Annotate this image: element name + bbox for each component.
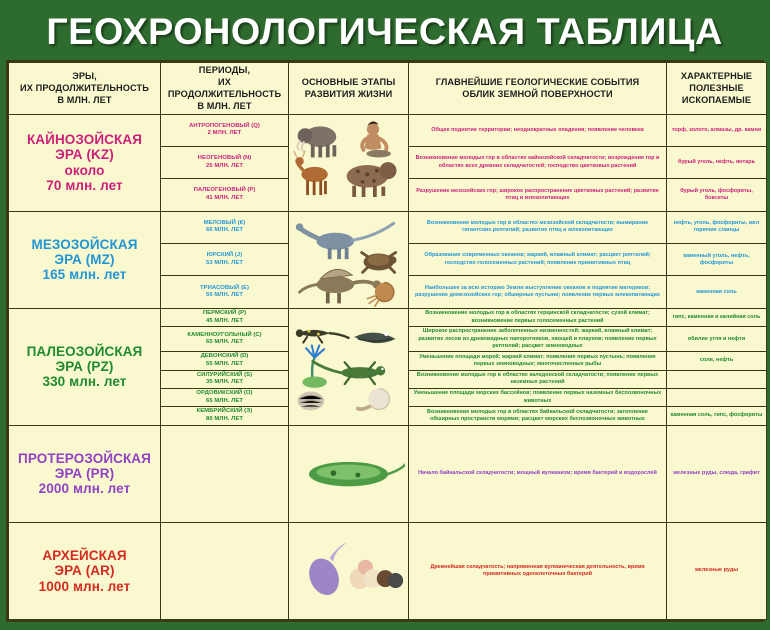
header-minerals-line2: ПОЛЕЗНЫЕ	[689, 83, 743, 93]
period-cell: ПАЛЕОГЕНОВЫЙ (Р)41 МЛН. ЛЕТ	[161, 179, 289, 211]
era-name-line: ЭРА (MZ)	[54, 252, 114, 267]
period-name: АНТРОПОГЕНОВЫЙ (Q)	[164, 123, 285, 131]
period-cell: ДЕВОНСКИЙ (D)55 МЛН. ЛЕТ	[161, 352, 289, 370]
life-illustration-kz	[289, 114, 409, 211]
period-cell: ОРДОВИКСКИЙ (О)65 МЛН. ЛЕТ	[161, 388, 289, 406]
header-life-line1: ОСНОВНЫЕ ЭТАПЫ	[302, 77, 396, 87]
geological-events-cell: Общее поднятие территории; неоднократные…	[409, 114, 667, 146]
table-row: КАЙНОЗОЙСКАЯЭРА (KZ)около70 млн. летАНТР…	[9, 114, 767, 146]
period-duration: 55 МЛН. ЛЕТ	[164, 361, 285, 369]
header-eras-line2: ИХ ПРОДОЛЖИТЕЛЬНОСТЬ	[20, 83, 149, 93]
header-periods-line3: В МЛН. ЛЕТ	[197, 101, 251, 111]
period-cell: ТРИАСОВЫЙ (Е)50 МЛН. ЛЕТ	[161, 276, 289, 308]
period-cell: ПЕРМСКИЙ (Р)45 МЛН. ЛЕТ	[161, 308, 289, 326]
period-name: МЕЛОВЫЙ (К)	[164, 220, 285, 228]
life-illustration-pr	[289, 425, 409, 522]
period-duration: 65 МЛН. ЛЕТ	[164, 339, 285, 347]
geological-events-cell: Возникновение молодых гор в областях бай…	[409, 407, 667, 425]
geochronology-table: ЭРЫ, ИХ ПРОДОЛЖИТЕЛЬНОСТЬ В МЛН. ЛЕТ ПЕР…	[8, 62, 767, 620]
era-cell-mz: МЕЗОЗОЙСКАЯЭРА (MZ)165 млн. лет	[9, 211, 161, 308]
era-name-line: 1000 млн. лет	[39, 579, 131, 594]
minerals-cell	[667, 388, 767, 406]
era-name-line: ЭРА (PZ)	[56, 359, 114, 374]
header-life-stages: ОСНОВНЫЕ ЭТАПЫ РАЗВИТИЯ ЖИЗНИ	[289, 63, 409, 115]
table-row: МЕЗОЗОЙСКАЯЭРА (MZ)165 млн. летМЕЛОВЫЙ (…	[9, 211, 767, 243]
geological-events-cell: Начало байкальской складчатости; мощный …	[409, 425, 667, 522]
era-name-line: 2000 млн. лет	[39, 481, 131, 496]
period-cell	[161, 425, 289, 522]
minerals-cell: обилие угля и нефти	[667, 327, 767, 352]
period-cell: КАМЕННОУГОЛЬНЫЙ (С)65 МЛН. ЛЕТ	[161, 327, 289, 352]
table-header: ЭРЫ, ИХ ПРОДОЛЖИТЕЛЬНОСТЬ В МЛН. ЛЕТ ПЕР…	[9, 63, 767, 115]
table-row: ПАЛЕОЗОЙСКАЯЭРА (PZ)330 млн. летПЕРМСКИЙ…	[9, 308, 767, 326]
minerals-cell: бурый уголь, нефть, янтарь	[667, 146, 767, 178]
period-duration: 35 МЛН. ЛЕТ	[164, 379, 285, 387]
table-row: АРХЕЙСКАЯЭРА (AR)1000 млн. летДревнейшая…	[9, 522, 767, 619]
period-cell: КЕМБРИЙСКИЙ (Э)80 МЛН. ЛЕТ	[161, 407, 289, 425]
era-name-line: МЕЗОЗОЙСКАЯ	[31, 237, 137, 252]
era-name-line: ЭРА (AR)	[54, 563, 114, 578]
minerals-cell: каменная соль, гипс, фосфориты	[667, 407, 767, 425]
header-events-line2: ОБЛИК ЗЕМНОЙ ПОВЕРХНОСТИ	[462, 89, 612, 99]
header-periods-line2: ИХ ПРОДОЛЖИТЕЛЬНОСТЬ	[168, 77, 281, 99]
period-name: ПАЛЕОГЕНОВЫЙ (Р)	[164, 187, 285, 195]
life-illustration-pz	[289, 308, 409, 425]
era-name-line: ЭРА (PR)	[55, 466, 114, 481]
minerals-cell: каменный уголь, нефть, фосфориты	[667, 244, 767, 276]
geological-events-cell: Наибольшее за всю историю Земли выступле…	[409, 276, 667, 308]
title-bar: ГЕОХРОНОЛОГИЧЕСКАЯ ТАБЛИЦА	[0, 0, 770, 60]
minerals-cell: железные руды, слюда, графит	[667, 425, 767, 522]
table-body: КАЙНОЗОЙСКАЯЭРА (KZ)около70 млн. летАНТР…	[9, 114, 767, 619]
period-name: КАМЕННОУГОЛЬНЫЙ (С)	[164, 332, 285, 340]
header-minerals-line3: ИСКОПАЕМЫЕ	[682, 95, 751, 105]
minerals-cell: бурый уголь, фосфориты, бокситы	[667, 179, 767, 211]
era-name-line: ПРОТЕРОЗОЙСКАЯ	[18, 451, 151, 466]
era-cell-pz: ПАЛЕОЗОЙСКАЯЭРА (PZ)330 млн. лет	[9, 308, 161, 425]
period-name: ОРДОВИКСКИЙ (О)	[164, 390, 285, 398]
geological-events-cell: Разрушение мезозойских гор; широкое расп…	[409, 179, 667, 211]
era-name-line: ПАЛЕОЗОЙСКАЯ	[27, 344, 143, 359]
header-events-line1: ГЛАВНЕЙШИЕ ГЕОЛОГИЧЕСКИЕ СОБЫТИЯ	[436, 77, 640, 87]
period-duration: 53 МЛН. ЛЕТ	[164, 260, 285, 268]
period-name: КЕМБРИЙСКИЙ (Э)	[164, 408, 285, 416]
header-eras-line3: В МЛН. ЛЕТ	[57, 95, 111, 105]
geological-events-cell: Возникновение молодых гор в областях мез…	[409, 211, 667, 243]
minerals-cell	[667, 370, 767, 388]
archean-life-icon	[292, 524, 405, 618]
period-name: СИЛУРИЙСКИЙ (S)	[164, 372, 285, 380]
minerals-cell: железные руды	[667, 522, 767, 619]
period-duration: 2 МЛН. ЛЕТ	[164, 130, 285, 138]
period-cell: МЕЛОВЫЙ (К)66 МЛН. ЛЕТ	[161, 211, 289, 243]
period-cell: ЮРСКИЙ (J)53 МЛН. ЛЕТ	[161, 244, 289, 276]
period-cell: СИЛУРИЙСКИЙ (S)35 МЛН. ЛЕТ	[161, 370, 289, 388]
era-name-line: 165 млн. лет	[42, 267, 126, 282]
period-duration: 65 МЛН. ЛЕТ	[164, 398, 285, 406]
header-row: ЭРЫ, ИХ ПРОДОЛЖИТЕЛЬНОСТЬ В МЛН. ЛЕТ ПЕР…	[9, 63, 767, 115]
cenozoic-fauna-icon	[292, 116, 405, 210]
table-container: ЭРЫ, ИХ ПРОДОЛЖИТЕЛЬНОСТЬ В МЛН. ЛЕТ ПЕР…	[6, 60, 764, 622]
era-name-line: АРХЕЙСКАЯ	[42, 548, 126, 563]
era-name-line: ЭРА (KZ)	[55, 147, 114, 162]
period-duration: 50 МЛН. ЛЕТ	[164, 292, 285, 300]
period-duration: 45 МЛН. ЛЕТ	[164, 318, 285, 326]
period-duration: 25 МЛН. ЛЕТ	[164, 163, 285, 171]
page-title: ГЕОХРОНОЛОГИЧЕСКАЯ ТАБЛИЦА	[47, 13, 723, 50]
era-name-line: 330 млн. лет	[42, 374, 126, 389]
period-cell	[161, 522, 289, 619]
geological-events-cell: Возникновение молодых гор в областях кал…	[409, 370, 667, 388]
period-name: ДЕВОНСКИЙ (D)	[164, 353, 285, 361]
era-cell-ar: АРХЕЙСКАЯЭРА (AR)1000 млн. лет	[9, 522, 161, 619]
header-minerals: ХАРАКТЕРНЫЕ ПОЛЕЗНЫЕ ИСКОПАЕМЫЕ	[667, 63, 767, 115]
header-periods: ПЕРИОДЫ, ИХ ПРОДОЛЖИТЕЛЬНОСТЬ В МЛН. ЛЕТ	[161, 63, 289, 115]
period-duration: 41 МЛН. ЛЕТ	[164, 195, 285, 203]
period-duration: 66 МЛН. ЛЕТ	[164, 227, 285, 235]
period-name: НЕОГЕНОВЫЙ (N)	[164, 155, 285, 163]
geochronological-table-poster: ГЕОХРОНОЛОГИЧЕСКАЯ ТАБЛИЦА ЭРЫ, ИХ ПРОДО…	[0, 0, 770, 630]
geological-events-cell: Древнейшая складчатость; напряженная вул…	[409, 522, 667, 619]
minerals-cell: торф, золото, алмазы, др. камни	[667, 114, 767, 146]
life-illustration-ar	[289, 522, 409, 619]
table-row: ПРОТЕРОЗОЙСКАЯЭРА (PR)2000 млн. летНачал…	[9, 425, 767, 522]
geological-events-cell: Уменьшение площади морей; жаркий климат;…	[409, 352, 667, 370]
geological-events-cell: Образование современных океанов; жаркий,…	[409, 244, 667, 276]
mesozoic-fauna-icon	[292, 213, 405, 307]
minerals-cell: соли, нефть	[667, 352, 767, 370]
geological-events-cell: Широкое распространение заболоченных низ…	[409, 327, 667, 352]
era-name-line: около	[65, 163, 105, 178]
header-geological-events: ГЛАВНЕЙШИЕ ГЕОЛОГИЧЕСКИЕ СОБЫТИЯ ОБЛИК З…	[409, 63, 667, 115]
period-name: ПЕРМСКИЙ (Р)	[164, 310, 285, 318]
header-life-line2: РАЗВИТИЯ ЖИЗНИ	[305, 89, 393, 99]
proterozoic-life-icon	[292, 427, 405, 521]
life-illustration-mz	[289, 211, 409, 308]
minerals-cell: нефть, уголь, фосфориты, мел горючие сла…	[667, 211, 767, 243]
period-cell: АНТРОПОГЕНОВЫЙ (Q)2 МЛН. ЛЕТ	[161, 114, 289, 146]
header-eras-line1: ЭРЫ,	[72, 71, 97, 81]
geological-events-cell: Возникновение молодых гор в областях гер…	[409, 308, 667, 326]
era-name-line: КАЙНОЗОЙСКАЯ	[27, 132, 142, 147]
era-cell-pr: ПРОТЕРОЗОЙСКАЯЭРА (PR)2000 млн. лет	[9, 425, 161, 522]
period-cell: НЕОГЕНОВЫЙ (N)25 МЛН. ЛЕТ	[161, 146, 289, 178]
geological-events-cell: Возникновение молодых гор в областях кай…	[409, 146, 667, 178]
period-name: ТРИАСОВЫЙ (Е)	[164, 285, 285, 293]
era-cell-kz: КАЙНОЗОЙСКАЯЭРА (KZ)около70 млн. лет	[9, 114, 161, 211]
period-name: ЮРСКИЙ (J)	[164, 252, 285, 260]
minerals-cell: каменная соль	[667, 276, 767, 308]
minerals-cell: гипс, каменная и калийная соль	[667, 308, 767, 326]
period-duration: 80 МЛН. ЛЕТ	[164, 416, 285, 424]
era-name-line: 70 млн. лет	[46, 178, 122, 193]
header-minerals-line1: ХАРАКТЕРНЫЕ	[681, 71, 752, 81]
header-eras: ЭРЫ, ИХ ПРОДОЛЖИТЕЛЬНОСТЬ В МЛН. ЛЕТ	[9, 63, 161, 115]
paleozoic-fauna-icon	[292, 320, 405, 414]
header-periods-line1: ПЕРИОДЫ,	[199, 65, 250, 75]
geological-events-cell: Уменьшение площади морских бассейнов; по…	[409, 388, 667, 406]
